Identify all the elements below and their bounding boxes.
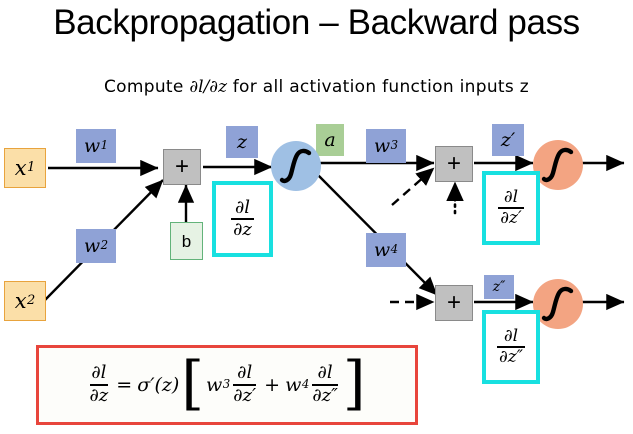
input-node-x2[interactable]: x2 (4, 281, 46, 321)
equation-term1-subscript: 3 (223, 379, 231, 391)
gradient-box-dl-dz-double-prime[interactable]: ∂l ∂z″ (482, 310, 540, 384)
equation-term2-numerator: ∂l (318, 364, 333, 383)
preactivation-node-z-double-prime[interactable]: z″ (484, 275, 514, 299)
equation-equals: = (116, 376, 132, 395)
weight-w2-subscript: 2 (101, 240, 109, 252)
bias-node-b[interactable]: b (170, 222, 203, 260)
input-node-x1[interactable]: x1 (4, 148, 46, 188)
weight-w1-subscript: 1 (101, 140, 109, 152)
arrow-dashed-into-sum2 (392, 168, 434, 205)
equation-bracket-close: ] (343, 366, 366, 402)
weight-w4-label: w (374, 241, 390, 260)
gradient-box-dl-dz[interactable]: ∂l ∂z (212, 181, 273, 257)
equation-term2-denominator: ∂z″ (312, 387, 338, 406)
subtitle-prefix: Compute (104, 77, 189, 97)
weight-w2-label: w (84, 237, 100, 256)
equation-sigma-prime: σ′(z) (137, 376, 179, 395)
equation-row: ∂l ∂z = σ′(z) [ w3 ∂l ∂z′ + w4 ∂l ∂z″ ] (87, 364, 368, 406)
input-x1-subscript: 1 (27, 161, 35, 174)
equation-bracket-open: [ (181, 366, 204, 402)
fraction-dl-dz-double-prime: ∂l ∂z″ (497, 328, 525, 367)
sum-node-3[interactable]: + (435, 285, 473, 321)
fraction-denominator: ∂z′ (498, 210, 524, 227)
equation-lhs-fraction: ∂l ∂z (90, 364, 109, 406)
fraction-numerator: ∂l (502, 189, 520, 206)
sum-node-1[interactable]: + (163, 149, 201, 185)
fraction-denominator: ∂z (231, 221, 254, 239)
preactivation-node-z[interactable]: z (226, 126, 258, 158)
equation-term1-weight: w (206, 376, 222, 395)
slide-canvas: Backpropagation – Backward pass Compute … (0, 0, 633, 434)
equation-term2-fraction: ∂l ∂z″ (312, 364, 338, 406)
equation-plus: + (264, 376, 280, 395)
fraction-denominator: ∂z″ (497, 349, 525, 366)
weight-node-w1[interactable]: w1 (76, 129, 116, 163)
weight-w3-label: w (374, 137, 390, 156)
input-x2-label: x (15, 291, 27, 312)
subtitle-math: ∂l/∂z (189, 77, 227, 97)
weight-node-w3[interactable]: w3 (366, 129, 406, 163)
weight-w3-subscript: 3 (391, 140, 399, 152)
weight-w1-label: w (84, 137, 100, 156)
weight-w4-subscript: 4 (391, 244, 399, 256)
equation-term2-subscript: 4 (302, 379, 310, 391)
subtitle-suffix: for all activation function inputs z (227, 77, 529, 97)
equation-lhs-denominator: ∂z (90, 387, 109, 406)
equation-term1-fraction: ∂l ∂z′ (233, 364, 256, 406)
fraction-numerator: ∂l (233, 199, 252, 217)
equation-term2-weight: w (285, 376, 301, 395)
preactivation-node-z-prime[interactable]: z′ (492, 124, 524, 156)
weight-node-w4[interactable]: w4 (366, 233, 406, 267)
equation-term1-denominator: ∂z′ (233, 387, 256, 406)
equation-lhs-numerator: ∂l (91, 364, 106, 383)
weight-node-w2[interactable]: w2 (76, 229, 116, 263)
fraction-numerator: ∂l (502, 328, 520, 345)
equation-box: ∂l ∂z = σ′(z) [ w3 ∂l ∂z′ + w4 ∂l ∂z″ ] (36, 345, 418, 425)
input-x2-subscript: 2 (27, 294, 35, 307)
equation-term1-numerator: ∂l (237, 364, 252, 383)
gradient-box-dl-dz-prime[interactable]: ∂l ∂z′ (482, 171, 540, 245)
fraction-dl-dz-prime: ∂l ∂z′ (498, 189, 524, 228)
sum-node-2[interactable]: + (435, 146, 473, 182)
fraction-dl-dz: ∂l ∂z (231, 199, 254, 240)
input-x1-label: x (15, 158, 27, 179)
sigmoid-circle-blue-1[interactable] (270, 140, 322, 192)
page-title: Backpropagation – Backward pass (0, 2, 633, 44)
page-subtitle: Compute ∂l/∂z for all activation functio… (0, 76, 633, 98)
